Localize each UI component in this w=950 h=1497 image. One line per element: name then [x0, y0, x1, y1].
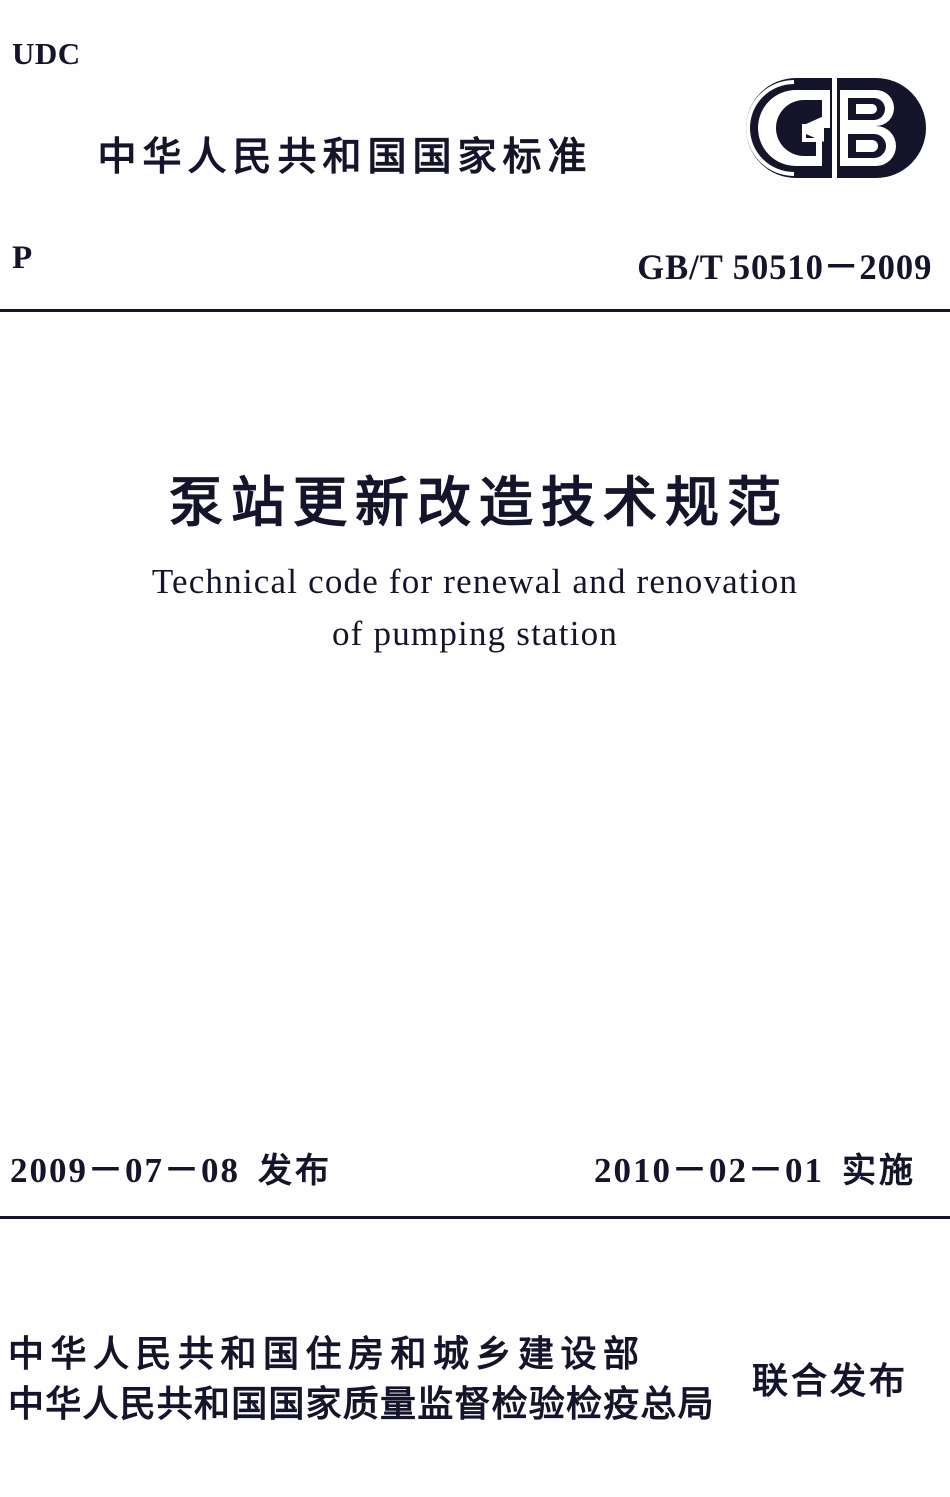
document-title-en-line1: Technical code for renewal and renovatio… — [0, 556, 950, 608]
issue-date: 2009－07－08 — [10, 1151, 240, 1190]
gb-logo — [744, 76, 928, 180]
issue-action-label: 发布 — [258, 1151, 332, 1191]
publisher-line-1: 中华人民共和国住房和城乡建设部 — [8, 1330, 738, 1380]
joint-issue-label: 联合发布 — [752, 1352, 908, 1404]
document-title-en: Technical code for renewal and renovatio… — [0, 556, 950, 660]
footer-divider — [0, 1216, 950, 1219]
publisher-block: 中华人民共和国住房和城乡建设部 中华人民共和国国家质量监督检验检疫总局 — [8, 1330, 738, 1430]
header-divider — [0, 309, 950, 312]
publisher-line-2: 中华人民共和国国家质量监督检验检疫总局 — [8, 1380, 738, 1430]
document-title-cn: 泵站更新改造技术规范 — [0, 458, 950, 537]
udc-label: UDC — [12, 36, 81, 72]
standard-number: GB/T 50510－2009 — [637, 238, 932, 290]
effective-date-group: 2010－02－01实施 — [594, 1142, 916, 1193]
effective-date: 2010－02－01 — [594, 1151, 824, 1190]
effective-action-label: 实施 — [842, 1151, 916, 1191]
classification-letter: P — [12, 240, 32, 277]
document-title-en-line2: of pumping station — [0, 608, 950, 660]
standard-cover-page: UDC 中华人民共和国国家标准 P GB/T 50510－2009 — [0, 0, 950, 1497]
dates-row: 2009－07－08发布 2010－02－01实施 — [0, 1142, 950, 1198]
issue-date-group: 2009－07－08发布 — [10, 1142, 332, 1193]
